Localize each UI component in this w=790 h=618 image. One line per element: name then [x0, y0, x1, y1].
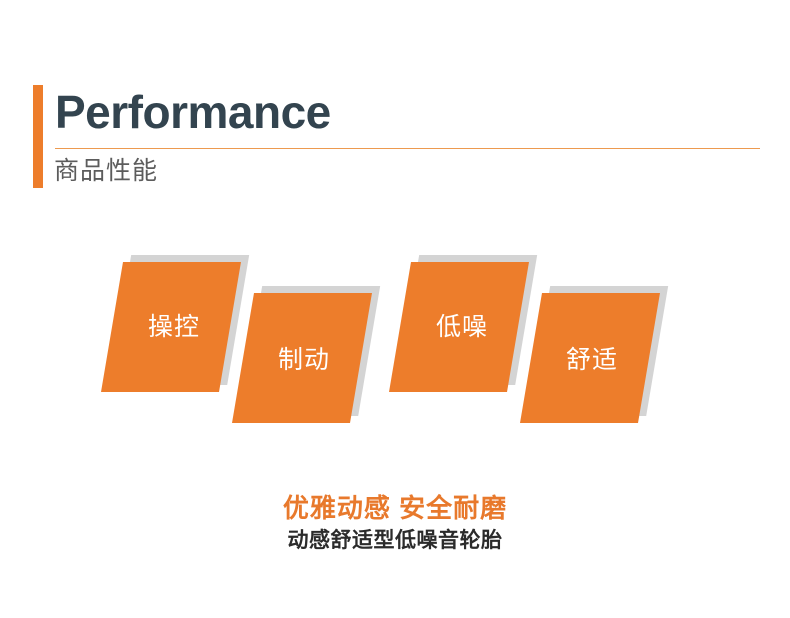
feature-shape-label: 舒适 — [533, 295, 651, 425]
feature-shape-label: 制动 — [245, 295, 363, 425]
tagline-secondary: 动感舒适型低噪音轮胎 — [0, 527, 790, 554]
feature-shape-label: 操控 — [115, 262, 233, 392]
feature-shape-label: 低噪 — [403, 262, 521, 392]
feature-shape: 舒适 — [520, 293, 660, 423]
footer-taglines: 优雅动感 安全耐磨 动感舒适型低噪音轮胎 — [0, 492, 790, 554]
tagline-primary: 优雅动感 安全耐磨 — [0, 492, 790, 524]
feature-shape: 操控 — [101, 262, 241, 392]
feature-shape: 低噪 — [389, 262, 529, 392]
feature-shape: 制动 — [232, 293, 372, 423]
